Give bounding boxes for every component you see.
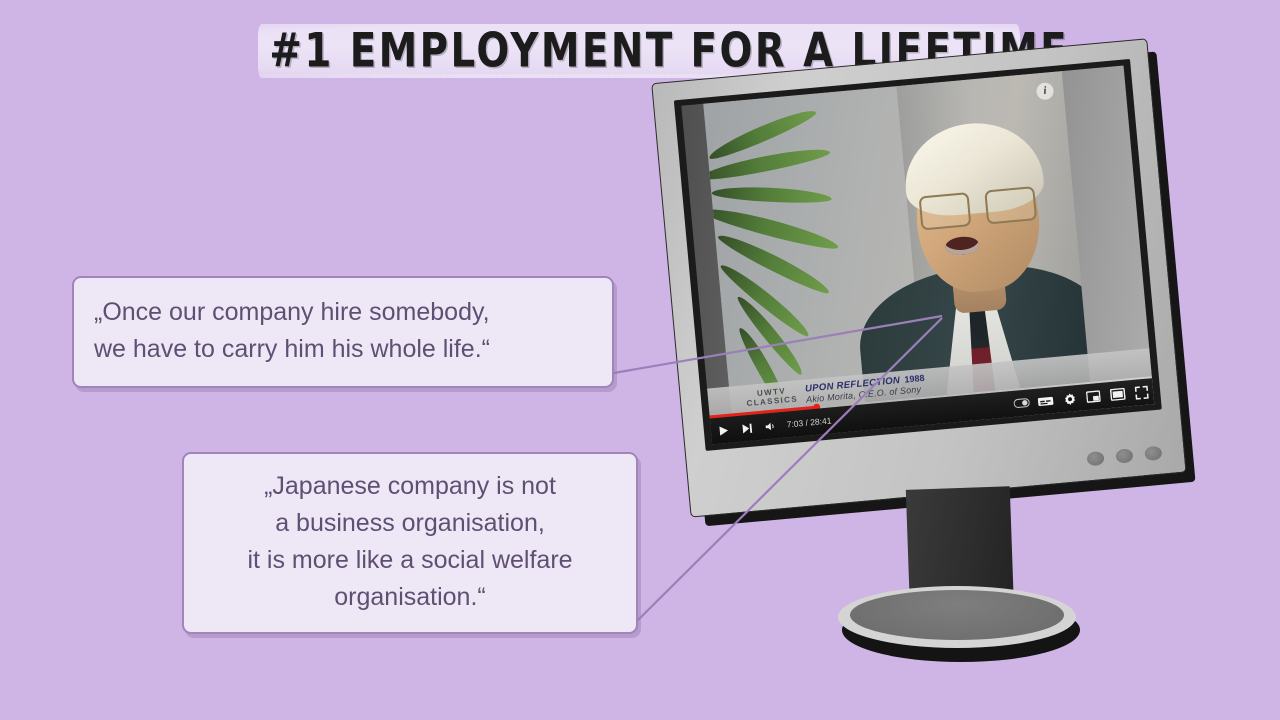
monitor-button[interactable] [1144,446,1162,461]
monitor-screen: i UWTV CLASSICS UPON REFLECTION [681,65,1154,444]
quote-line: it is more like a social welfare [202,542,618,579]
quote-line: we have to carry him his whole life.“ [94,331,592,368]
monitor-button[interactable] [1086,451,1104,466]
monitor-button[interactable] [1115,448,1133,463]
next-icon[interactable] [734,414,760,442]
quote-line: „Once our company hire somebody, [94,294,592,331]
monitor-bezel: i UWTV CLASSICS UPON REFLECTION [651,38,1186,517]
caption-year: 1988 [904,373,925,385]
quote-line: organisation.“ [202,579,618,616]
fullscreen-icon[interactable] [1128,378,1154,406]
monitor-buttons[interactable] [1086,446,1162,467]
video-player[interactable]: i UWTV CLASSICS UPON REFLECTION [681,65,1154,444]
subtitles-icon[interactable] [1032,387,1058,415]
quote-line: a business organisation, [202,505,618,542]
play-icon[interactable] [710,416,736,444]
quote-line: „Japanese company is not [202,468,618,505]
quote-bubble-2: „Japanese company is not a business orga… [182,452,638,634]
quote-bubble-1: „Once our company hire somebody, we have… [72,276,614,388]
computer-monitor: i UWTV CLASSICS UPON REFLECTION [651,36,1209,521]
autoplay-icon[interactable] [1009,389,1035,417]
caption-brand: UWTV CLASSICS [745,385,798,408]
monitor-inner-frame: i UWTV CLASSICS UPON REFLECTION [674,59,1162,451]
theater-mode-icon[interactable] [1104,380,1130,408]
miniplayer-icon[interactable] [1080,383,1106,411]
control-spacer [831,404,1009,420]
slide-canvas: #1 EMPLOYMENT FOR A LIFETIME [0,0,1280,720]
monitor-stand-base-top [850,590,1064,640]
gear-icon[interactable] [1056,385,1082,413]
time-display: 7:03 / 28:41 [786,415,832,429]
volume-icon[interactable] [758,412,784,440]
